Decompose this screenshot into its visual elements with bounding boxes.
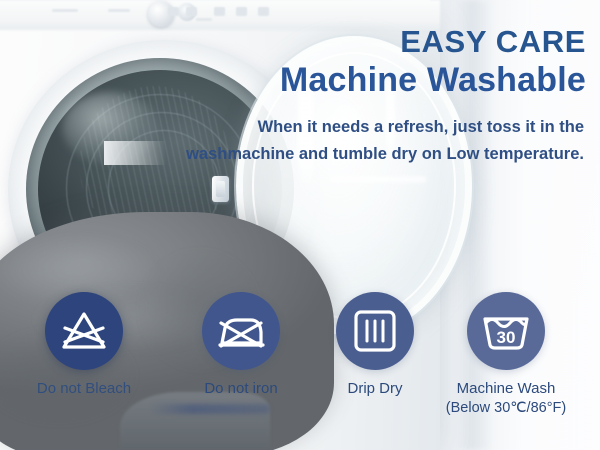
care-badge-drip-dry: Drip Dry	[310, 292, 440, 399]
badge-circle	[45, 292, 123, 370]
panel-button	[258, 7, 269, 16]
panel-label	[52, 9, 78, 12]
do-not-iron-icon	[216, 310, 266, 352]
care-badge-machine-wash: 30 Machine Wash (Below 30℃/86°F)	[441, 292, 571, 419]
page-title: Machine Washable	[280, 63, 586, 97]
easy-care-banner: EASY CARE Machine Washable When it needs…	[0, 0, 600, 450]
drip-dry-icon	[352, 308, 398, 354]
care-badge-label: Do not iron	[176, 379, 306, 399]
badge-circle: 30	[467, 292, 545, 370]
panel-label	[196, 18, 212, 21]
panel-button	[236, 7, 247, 16]
machine-wash-icon: 30	[480, 310, 532, 352]
panel-button	[186, 7, 197, 16]
do-not-bleach-icon	[59, 309, 109, 353]
panel-label	[108, 9, 130, 12]
panel-button	[168, 7, 179, 16]
badge-circle	[336, 292, 414, 370]
drum-highlight	[62, 92, 158, 164]
care-badge-do-not-bleach: Do not Bleach	[19, 292, 149, 399]
care-symbol-row: Do not Bleach Do not iron	[0, 292, 600, 432]
care-badge-sublabel: (Below 30℃/86°F)	[441, 399, 571, 419]
care-badge-label: Machine Wash (Below 30℃/86°F)	[441, 379, 571, 419]
body-line-1: When it needs a refresh, just toss it in…	[258, 118, 584, 136]
badge-circle	[202, 292, 280, 370]
eyebrow-heading: EASY CARE	[400, 26, 586, 57]
care-badge-label: Do not Bleach	[19, 379, 149, 399]
panel-button	[214, 7, 225, 16]
door-highlight	[330, 176, 426, 183]
body-copy: When it needs a refresh, just toss it in…	[164, 114, 584, 167]
door-hinge-upper	[212, 176, 229, 202]
body-line-2: washmachine and tumble dry on Low temper…	[164, 141, 584, 168]
wash-temperature-value: 30	[497, 328, 516, 347]
care-badge-do-not-iron: Do not iron	[176, 292, 306, 399]
care-badge-label: Drip Dry	[310, 379, 440, 399]
